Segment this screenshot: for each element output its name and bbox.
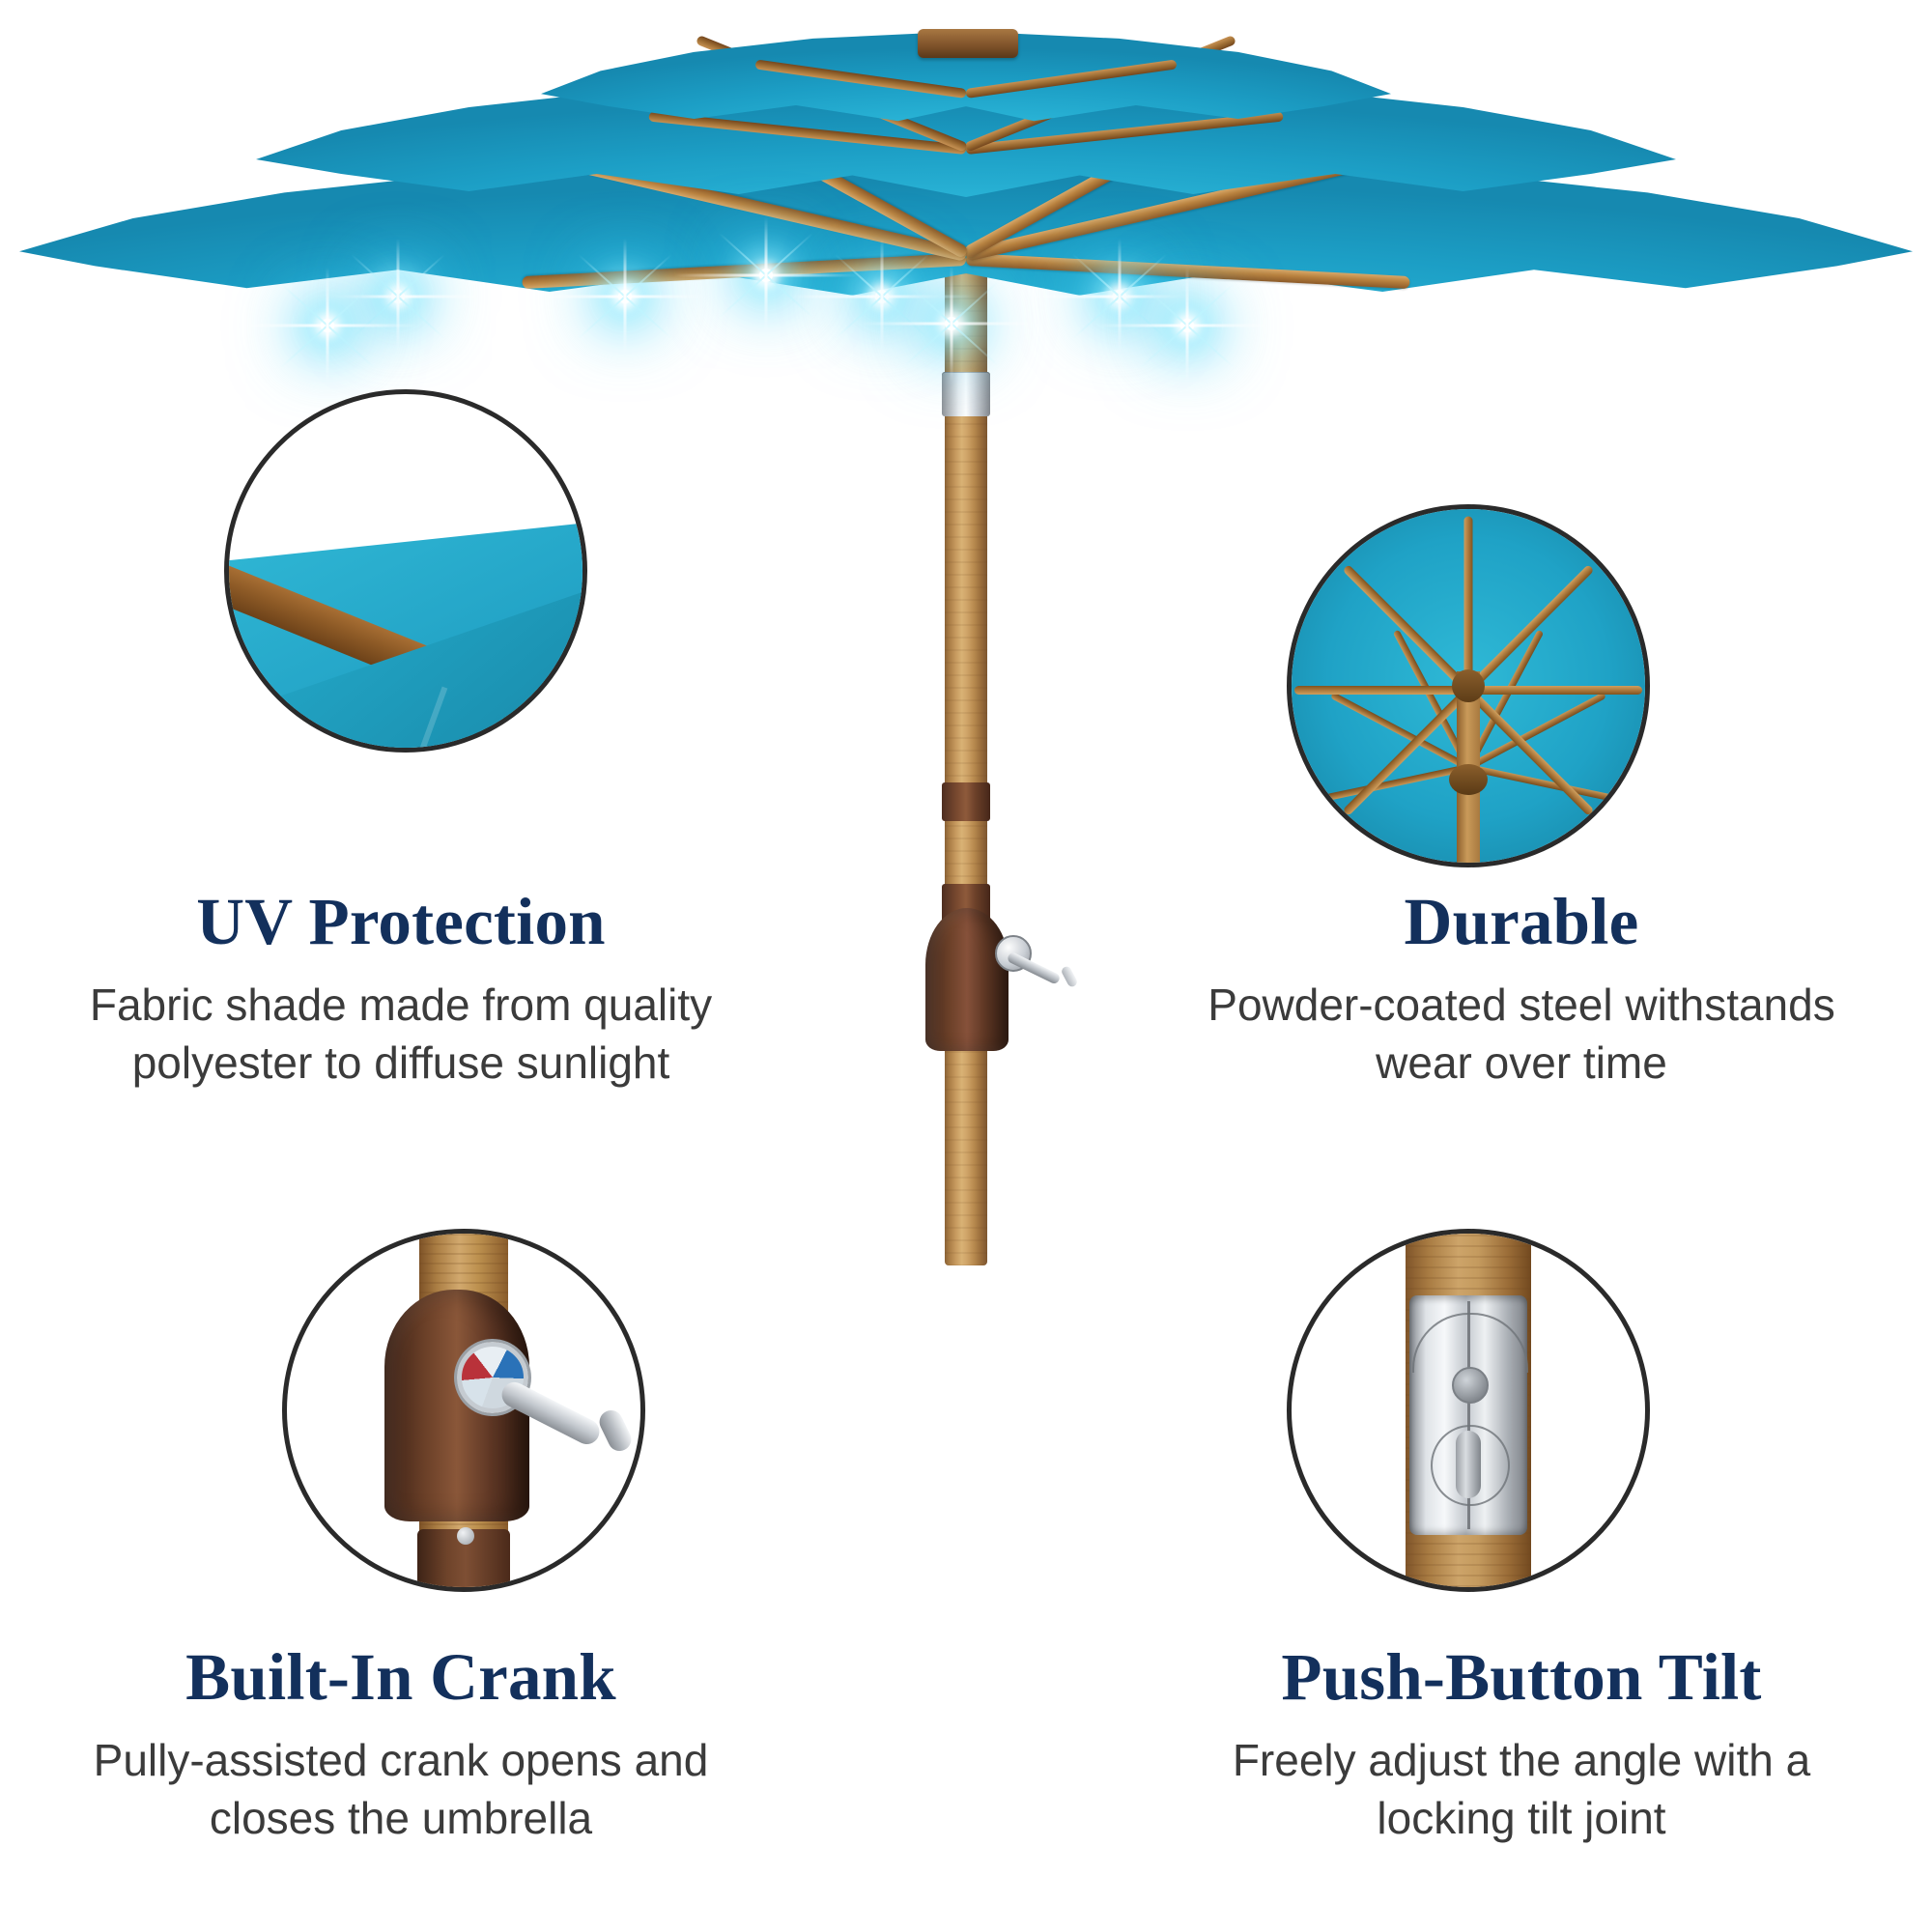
tilt-collar	[942, 372, 990, 416]
feature-body-push-button-tilt: Freely adjust the angle with a locking t…	[1154, 1732, 1889, 1848]
crank-grip	[596, 1406, 636, 1455]
callout-circle-built-in-crank	[282, 1229, 645, 1592]
feature-uv-protection: UV Protection Fabric shade made from qua…	[34, 887, 768, 1093]
feature-body-line: polyester to diffuse sunlight	[34, 1035, 768, 1093]
rib-spoke	[1468, 686, 1642, 695]
callout-circle-push-button-tilt	[1287, 1229, 1650, 1592]
led-light	[1180, 319, 1194, 332]
feature-body-uv-protection: Fabric shade made from quality polyester…	[34, 977, 768, 1093]
locking-screw-icon	[457, 1527, 474, 1545]
pole-joint-upper	[942, 782, 990, 821]
feature-body-durable: Powder-coated steel withstands wear over…	[1154, 977, 1889, 1093]
led-light	[945, 317, 958, 330]
feature-title-push-button-tilt: Push-Button Tilt	[1154, 1642, 1889, 1713]
led-light	[618, 290, 632, 303]
feature-body-line: wear over time	[1154, 1035, 1889, 1093]
push-button-icon	[1452, 1367, 1489, 1404]
callout-circle-durable	[1287, 504, 1650, 867]
feature-title-durable: Durable	[1154, 887, 1889, 957]
feature-body-line: Powder-coated steel withstands	[1154, 977, 1889, 1035]
feature-title-uv-protection: UV Protection	[34, 887, 768, 957]
feature-body-line: Pully-assisted crank opens and	[34, 1732, 768, 1790]
rib-spoke	[1464, 517, 1473, 691]
callout-circle-uv-protection	[224, 389, 587, 753]
feature-body-built-in-crank: Pully-assisted crank opens and closes th…	[34, 1732, 768, 1848]
feature-durable: Durable Powder-coated steel withstands w…	[1154, 887, 1889, 1093]
rib-spoke	[1294, 686, 1468, 695]
lower-hub	[1449, 764, 1488, 795]
feature-body-line: locking tilt joint	[1154, 1790, 1889, 1848]
crank-housing	[925, 908, 1009, 1051]
feature-body-line: Freely adjust the angle with a	[1154, 1732, 1889, 1790]
led-light	[321, 319, 334, 332]
upper-hub	[1452, 669, 1485, 702]
feature-body-line: closes the umbrella	[34, 1790, 768, 1848]
feature-title-built-in-crank: Built-In Crank	[34, 1642, 768, 1713]
led-light	[875, 290, 889, 303]
feature-built-in-crank: Built-In Crank Pully-assisted crank open…	[34, 1642, 768, 1848]
infographic-canvas: UV Protection Fabric shade made from qua…	[0, 0, 1932, 1932]
finial-cap	[918, 29, 1018, 58]
led-light	[759, 269, 773, 282]
led-light	[391, 290, 405, 303]
crank-grip	[1060, 965, 1078, 988]
feature-body-line: Fabric shade made from quality	[34, 977, 768, 1035]
tilt-lever	[1456, 1431, 1481, 1498]
feature-push-button-tilt: Push-Button Tilt Freely adjust the angle…	[1154, 1642, 1889, 1848]
led-light	[1113, 290, 1126, 303]
